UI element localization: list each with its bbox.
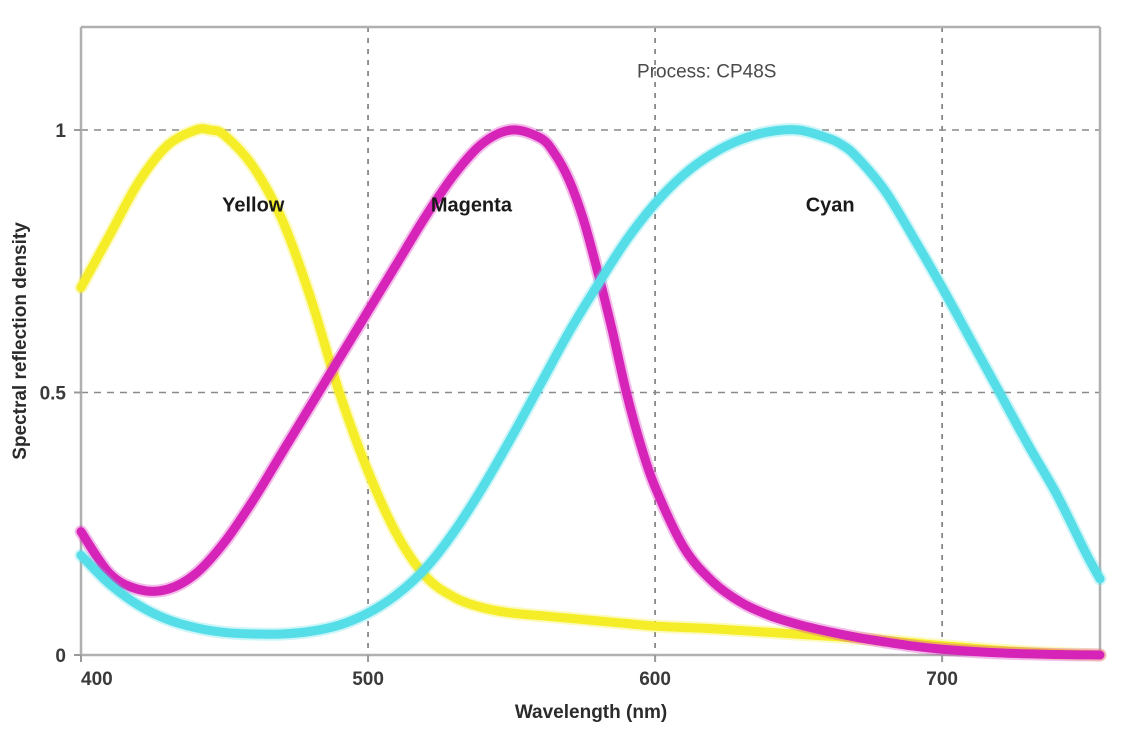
x-tick-label-600: 600 <box>639 669 671 690</box>
x-tick-label-400: 400 <box>81 669 113 690</box>
spectral-reflection-density-chart: 40050060070000.51 YellowMagentaCyan Proc… <box>0 0 1122 736</box>
chart-canvas: 40050060070000.51 YellowMagentaCyan Proc… <box>0 0 1122 736</box>
y-axis-title: Spectral reflection density <box>10 222 31 460</box>
y-tick-label-0-5: 0.5 <box>40 384 67 405</box>
y-tick-label-0: 0 <box>55 646 66 667</box>
x-tick-label-500: 500 <box>352 669 384 690</box>
y-tick-label-1: 1 <box>55 121 66 142</box>
series-label-cyan: Cyan <box>806 194 855 216</box>
process-annotation: Process: CP48S <box>637 62 776 83</box>
series-label-yellow: Yellow <box>222 194 285 216</box>
series-label-magenta: Magenta <box>431 194 513 216</box>
x-tick-label-700: 700 <box>926 669 958 690</box>
x-axis-title: Wavelength (nm) <box>515 702 667 723</box>
